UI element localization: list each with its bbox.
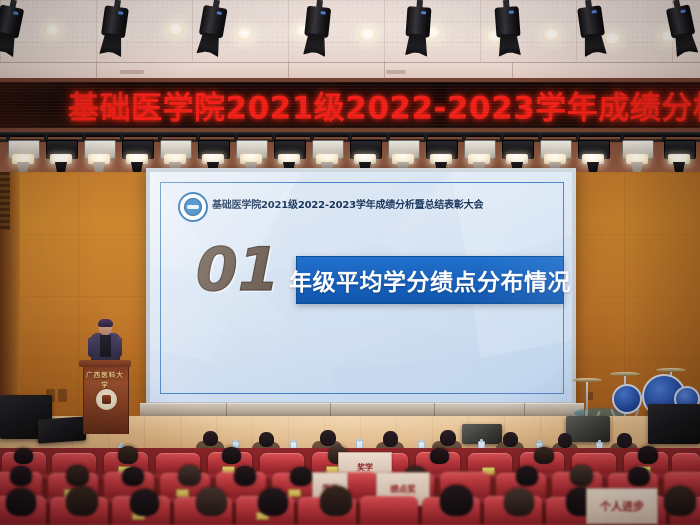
audience-head [516, 466, 538, 486]
audience-head [628, 467, 650, 486]
audience-seating-area: 奖学 学习 绩点奖 [0, 448, 700, 525]
wall-plate [58, 389, 67, 402]
university-seal-icon [95, 388, 118, 411]
audience-head [320, 486, 352, 516]
audience-head [118, 446, 138, 464]
slide-section-title-box: 年级平均学分绩点分布情况 [296, 256, 564, 304]
ceiling-seam [288, 62, 289, 78]
audience-head [222, 447, 241, 464]
audience-head [430, 448, 449, 464]
spotlight-icon [494, 0, 522, 59]
audience-head [66, 486, 98, 516]
audience-head [440, 485, 473, 516]
ceiling-vent [120, 70, 144, 74]
spotlight-icon [404, 0, 432, 59]
rail-seam [524, 403, 525, 417]
ceiling-vent [386, 70, 406, 74]
audience-head [122, 467, 144, 486]
seat-placard-featured: 个人进步 [586, 488, 658, 524]
slide-header-text: 基础医学院2021级2022-2023学年成绩分析暨总结表彰大会 [212, 196, 483, 211]
led-banner-glow [0, 82, 700, 128]
downlight-icon [359, 28, 376, 41]
rail-seam [226, 403, 227, 417]
downlight-icon [604, 32, 621, 45]
audience-head [290, 467, 312, 486]
presenter [88, 320, 122, 364]
downlight-icon [543, 28, 560, 41]
seat-placard-text: 个人进步 [600, 498, 644, 514]
cymbal [610, 372, 640, 376]
university-emblem-icon [178, 192, 208, 222]
auditorium-photo: 基础医学院2021级2022-2023学年成绩分析暨表彰大会 [0, 0, 700, 525]
downlight-icon [236, 27, 253, 40]
ceiling-seam [96, 62, 97, 78]
ceiling-lower-band [0, 62, 700, 79]
audience-head [638, 446, 658, 464]
seat [360, 496, 418, 525]
ceiling-seam [512, 62, 513, 78]
downlight-icon [44, 24, 61, 37]
audience-head [10, 466, 32, 486]
rail-seam [330, 403, 331, 417]
audience-head [66, 465, 89, 486]
drum-tom [612, 384, 642, 414]
slide-section-title-text: 年级平均学分绩点分布情况 [289, 263, 571, 297]
seat-placard-text: 奖学 [357, 462, 373, 473]
audience-head [664, 486, 696, 516]
audience-head [130, 489, 159, 516]
audience-head [196, 487, 227, 516]
audience-head [14, 448, 33, 464]
wall-left-ribbed-strip [0, 172, 10, 230]
audience-head [234, 466, 256, 486]
audience-head [534, 447, 554, 464]
downlight-icon [167, 23, 184, 36]
podium-label: 广西医科大学 [84, 369, 126, 389]
rail-seam [434, 403, 435, 417]
cymbal [656, 368, 686, 372]
audience-head [258, 488, 288, 516]
audience-head [570, 465, 593, 486]
audience-head [6, 488, 36, 516]
cymbal [572, 378, 602, 382]
audience-head [504, 488, 534, 516]
seat-placard-text: 绩点奖 [390, 483, 416, 495]
ceiling-seam [384, 62, 385, 78]
slide-section-number: 01 [196, 240, 280, 300]
audience-head [178, 465, 201, 486]
